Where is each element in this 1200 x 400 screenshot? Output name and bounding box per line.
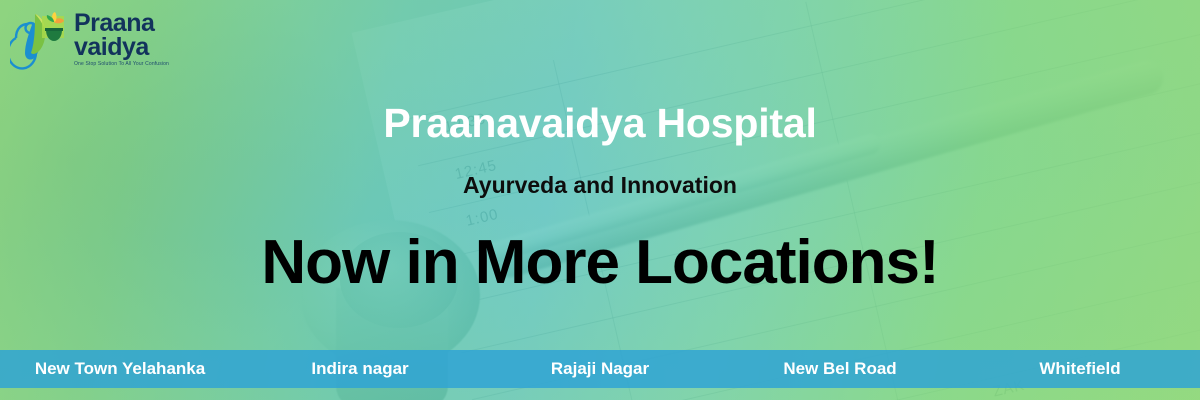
location-item-new-bel-road[interactable]: New Bel Road	[720, 359, 960, 379]
locations-bar: New Town Yelahanka Indira nagar Rajaji N…	[0, 350, 1200, 388]
location-item-rajaji-nagar[interactable]: Rajaji Nagar	[480, 359, 720, 379]
hero-copy: Praanavaidya Hospital Ayurveda and Innov…	[0, 0, 1200, 298]
brand-logo[interactable]: Praana vaidya One Stop Solution To All Y…	[10, 8, 169, 70]
location-item-new-town-yelahanka[interactable]: New Town Yelahanka	[0, 359, 240, 379]
hero-title: Praanavaidya Hospital	[0, 100, 1200, 147]
logo-name-line1: Praana	[74, 12, 169, 35]
promo-banner: 12:30 12:45 1:00 POZIV ZAK	[0, 0, 1200, 400]
location-item-indira-nagar[interactable]: Indira nagar	[240, 359, 480, 379]
logo-tagline: One Stop Solution To All Your Confusion	[74, 62, 169, 67]
location-item-whitefield[interactable]: Whitefield	[960, 359, 1200, 379]
logo-name-line2: vaidya	[74, 36, 169, 59]
hero-subtitle: Ayurveda and Innovation	[0, 172, 1200, 199]
logo-wordmark: Praana vaidya One Stop Solution To All Y…	[74, 12, 169, 67]
hero-headline: Now in More Locations!	[0, 227, 1200, 298]
praanavaidya-logo-icon	[10, 8, 68, 70]
